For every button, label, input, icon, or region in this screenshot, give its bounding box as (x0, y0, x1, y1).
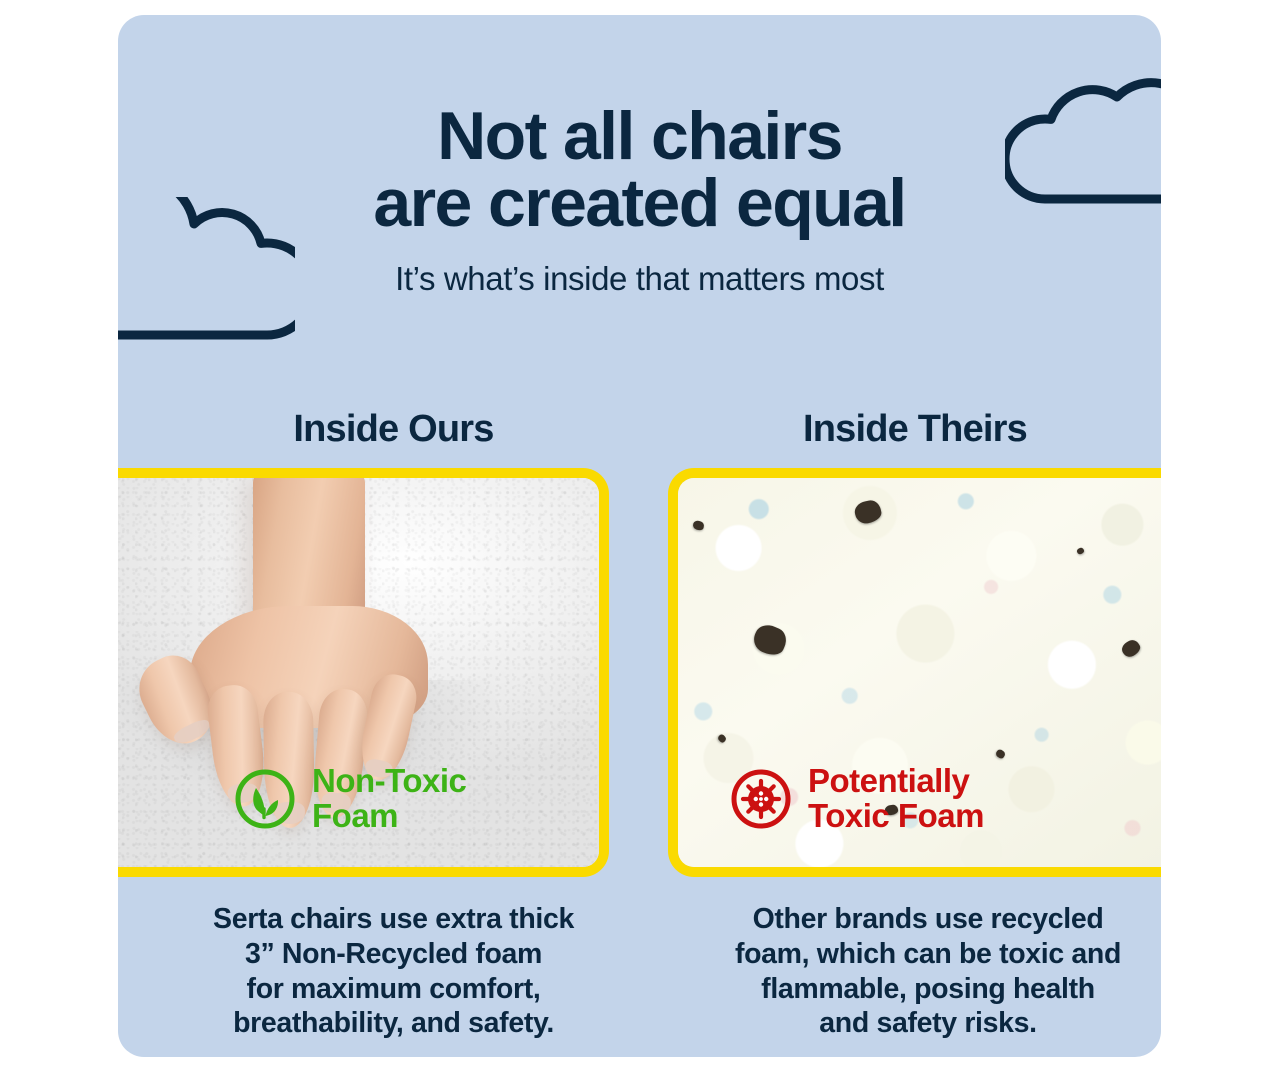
germ-icon (730, 768, 792, 830)
page-title: Not all chairs are created equal (118, 103, 1161, 238)
column-heading-ours: Inside Ours (118, 408, 669, 451)
image-panel-theirs: Potentially Toxic Foam (668, 468, 1161, 877)
column-heading-theirs: Inside Theirs (669, 408, 1161, 451)
infographic-card: Not all chairs are created equal It’s wh… (118, 15, 1161, 1057)
badge-label-non-toxic: Non-Toxic Foam (312, 764, 466, 833)
badge-non-toxic-foam: Non-Toxic Foam (234, 764, 466, 833)
leaf-icon (234, 768, 296, 830)
caption-ours: Serta chairs use extra thick 3” Non-Recy… (136, 902, 651, 1041)
caption-theirs: Other brands use recycled foam, which ca… (678, 902, 1161, 1041)
header-block: Not all chairs are created equal It’s wh… (118, 103, 1161, 298)
badge-potentially-toxic-foam: Potentially Toxic Foam (730, 764, 984, 833)
image-panel-ours: Non-Toxic Foam (118, 468, 609, 877)
page-subtitle: It’s what’s inside that matters most (118, 260, 1161, 298)
badge-label-potentially-toxic: Potentially Toxic Foam (808, 764, 984, 833)
